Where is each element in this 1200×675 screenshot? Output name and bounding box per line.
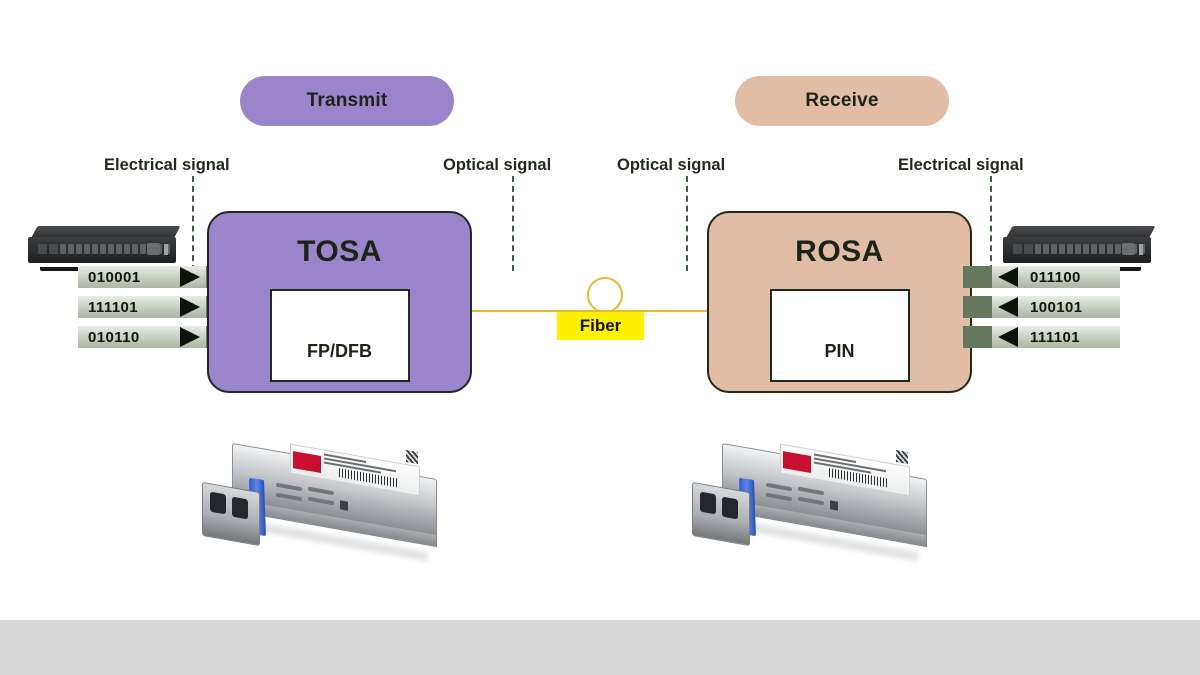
signal-code: 111101 bbox=[88, 300, 138, 315]
boundary-dash-line-4 bbox=[990, 176, 992, 271]
switch-status-strip bbox=[1139, 244, 1143, 255]
arrow-right-icon bbox=[998, 267, 1018, 287]
tosa-component-box: FP/DFB bbox=[270, 289, 410, 382]
electrical-signal-bar-left-3: 010110 bbox=[78, 326, 206, 348]
signal-code: 010001 bbox=[88, 270, 140, 285]
fiber-loop-icon bbox=[587, 277, 623, 313]
switch-console-port bbox=[147, 243, 160, 255]
sfp-lc-port bbox=[210, 492, 226, 515]
electrical-signal-bar-right-1: 011100 bbox=[992, 266, 1120, 288]
rosa-title: ROSA bbox=[709, 235, 970, 269]
fiber-label-tag: Fiber bbox=[557, 312, 644, 340]
transmit-header-label: Transmit bbox=[307, 90, 388, 112]
signal-connector-right-1 bbox=[963, 266, 993, 288]
switch-front-panel bbox=[28, 237, 176, 263]
switch-console-port bbox=[1122, 243, 1135, 255]
sfp-lc-port bbox=[722, 497, 738, 520]
electrical-signal-bar-left-2: 111101 bbox=[78, 296, 206, 318]
receive-header-pill: Receive bbox=[735, 76, 949, 126]
signal-code: 010110 bbox=[88, 330, 140, 345]
caption-optical-signal-right: Optical signal bbox=[617, 156, 725, 175]
arrow-right-icon bbox=[180, 327, 200, 347]
boundary-dash-line-2 bbox=[512, 176, 514, 271]
arrow-right-icon bbox=[998, 297, 1018, 317]
sfp-transceiver-left bbox=[192, 443, 442, 573]
tosa-title: TOSA bbox=[209, 235, 470, 269]
signal-connector-right-2 bbox=[963, 296, 993, 318]
fiber-label: Fiber bbox=[580, 316, 622, 336]
bottom-band bbox=[0, 620, 1200, 675]
caption-electrical-signal-right: Electrical signal bbox=[898, 156, 1024, 175]
switch-front-panel bbox=[1003, 237, 1151, 263]
network-switch-left bbox=[28, 226, 180, 268]
rosa-component-box: PIN bbox=[770, 289, 910, 382]
arrow-right-icon bbox=[998, 327, 1018, 347]
signal-connector-right-3 bbox=[963, 326, 993, 348]
boundary-dash-line-1 bbox=[192, 176, 194, 271]
sfp-brand-tag bbox=[783, 451, 811, 473]
sfp-body-notch bbox=[340, 500, 348, 510]
arrow-right-icon bbox=[180, 267, 200, 287]
tosa-unit: TOSA FP/DFB bbox=[207, 211, 472, 393]
receive-header-label: Receive bbox=[805, 90, 878, 112]
sfp-lc-port bbox=[700, 492, 716, 515]
electrical-signal-bar-right-3: 111101 bbox=[992, 326, 1120, 348]
transmit-header-pill: Transmit bbox=[240, 76, 454, 126]
sfp-transceiver-right bbox=[682, 443, 932, 573]
signal-code: 100101 bbox=[1030, 300, 1082, 315]
signal-code: 011100 bbox=[1030, 270, 1081, 285]
signal-code: 111101 bbox=[1030, 330, 1080, 345]
diagram-canvas: Transmit Receive Electrical signal Optic… bbox=[0, 0, 1200, 675]
sfp-body-notch bbox=[830, 500, 838, 510]
electrical-signal-bar-right-2: 100101 bbox=[992, 296, 1120, 318]
rosa-component-label: PIN bbox=[824, 341, 854, 362]
sfp-qr-code bbox=[406, 450, 418, 464]
tosa-component-label: FP/DFB bbox=[307, 341, 372, 362]
arrow-right-icon bbox=[180, 297, 200, 317]
boundary-dash-line-3 bbox=[686, 176, 688, 271]
caption-electrical-signal-left: Electrical signal bbox=[104, 156, 230, 175]
electrical-signal-bar-left-1: 010001 bbox=[78, 266, 206, 288]
network-switch-right bbox=[1003, 226, 1155, 268]
switch-status-strip bbox=[164, 244, 168, 255]
rosa-unit: ROSA PIN bbox=[707, 211, 972, 393]
sfp-qr-code bbox=[896, 450, 908, 464]
caption-optical-signal-left: Optical signal bbox=[443, 156, 551, 175]
sfp-lc-port bbox=[232, 497, 248, 520]
sfp-brand-tag bbox=[293, 451, 321, 473]
